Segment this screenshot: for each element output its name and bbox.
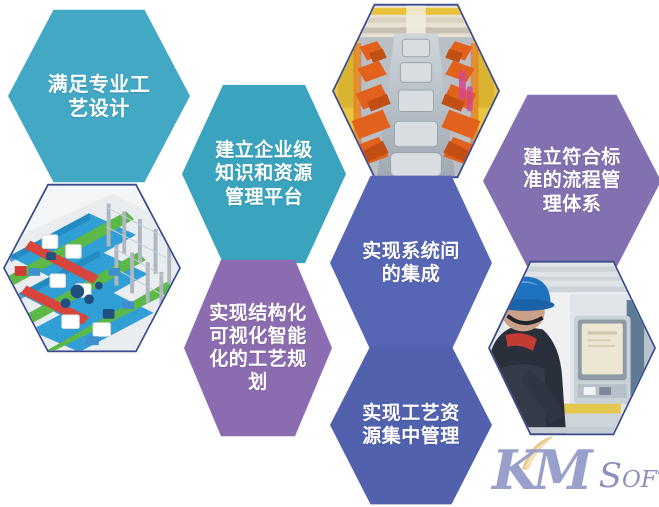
hex-centralized-resource-management[interactable]: 实现工艺资 源集中管理 bbox=[330, 344, 492, 506]
hex-robot-assembly-line-photo bbox=[332, 2, 500, 180]
hex-system-integration-label: 实现系统间 的集成 bbox=[348, 240, 474, 286]
factory-layout-image bbox=[5, 184, 179, 352]
kmsoft-logo: KM SOFT bbox=[492, 437, 654, 499]
hex-satisfy-process-design-label: 满足专业工 艺设计 bbox=[39, 72, 159, 121]
slide-canvas: 满足专业工 艺设计 建立企业级 知识和资源 管理平台 bbox=[0, 0, 659, 507]
hex-enterprise-knowledge-platform[interactable]: 建立企业级 知识和资源 管理平台 bbox=[182, 83, 346, 265]
hex-centralized-resource-management-label: 实现工艺资 源集中管理 bbox=[346, 402, 476, 448]
hex-factory-layout-photo bbox=[3, 182, 181, 354]
hex-cnc-operator-photo bbox=[488, 259, 656, 437]
cnc-operator-image bbox=[490, 261, 654, 435]
hex-structured-visual-planning[interactable]: 实现结构化 可视化智能 化的工艺规 划 bbox=[184, 258, 332, 438]
logo-wordmark: SOFT bbox=[599, 459, 659, 493]
robot-assembly-line-image bbox=[334, 4, 498, 178]
logo-mark: KM bbox=[492, 443, 587, 497]
hex-satisfy-process-design[interactable]: 满足专业工 艺设计 bbox=[8, 8, 190, 184]
hex-enterprise-knowledge-platform-label: 建立企业级 知识和资源 管理平台 bbox=[200, 139, 328, 209]
hex-structured-visual-planning-label: 实现结构化 可视化智能 化的工艺规 划 bbox=[193, 302, 323, 395]
logo-wordmark-rest: OFT bbox=[622, 467, 659, 493]
logo-wordmark-lead: S bbox=[599, 456, 622, 496]
hex-system-integration[interactable]: 实现系统间 的集成 bbox=[330, 174, 492, 352]
hex-standard-process-management-label: 建立符合标 准的流程管 理体系 bbox=[510, 146, 635, 216]
hex-standard-process-management[interactable]: 建立符合标 准的流程管 理体系 bbox=[483, 93, 659, 269]
